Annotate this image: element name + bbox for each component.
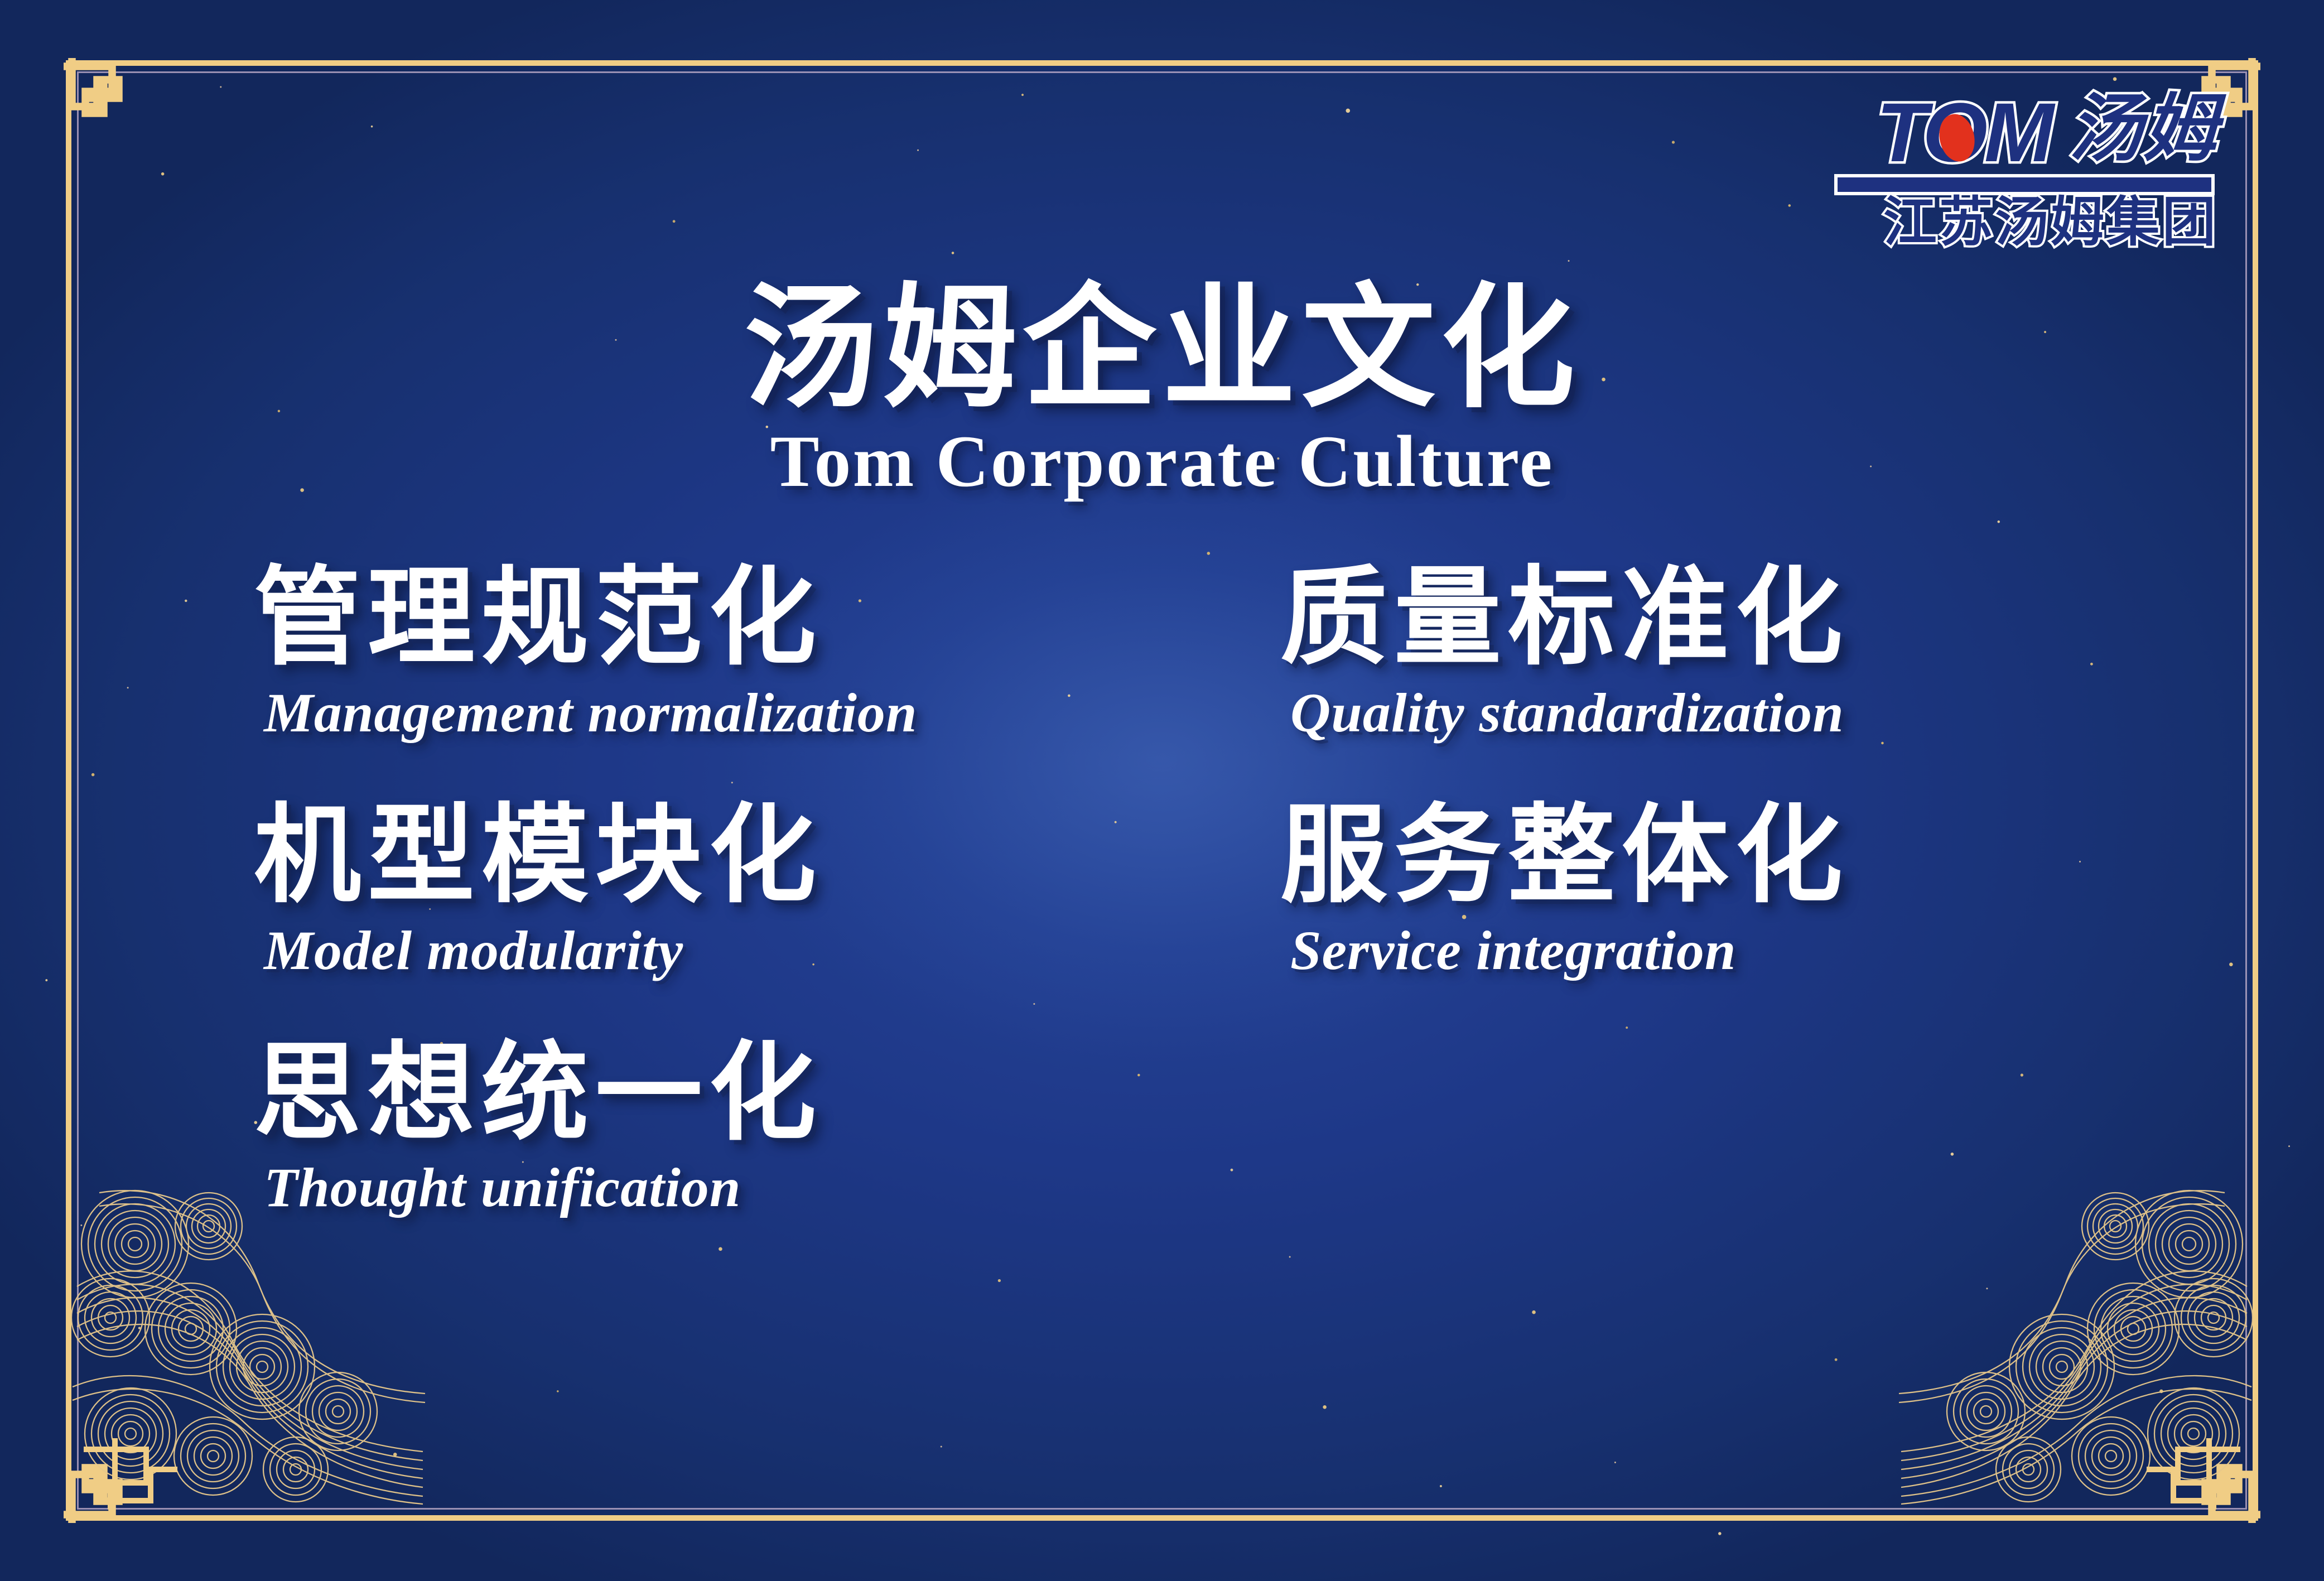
logo-wordmark-row: TOM 汤姆 [1794, 89, 2218, 184]
page-title: 汤姆企业文化 Tom Corporate Culture [0, 279, 2324, 500]
value-item-thought-unification: 思想统一化 Thought unification [254, 1039, 1280, 1216]
logo-brand-cn: 汤姆 [2069, 87, 2218, 172]
value-cn-label: 管理规范化 [254, 563, 1280, 673]
value-row-3-spacer [1280, 1039, 2095, 1216]
page-title-en: Tom Corporate Culture [0, 423, 2324, 500]
value-item-quality-standardization: 质量标准化 Quality standardization [1280, 563, 2095, 741]
value-item-model-modularity: 机型模块化 Model modularity [254, 801, 1280, 979]
company-logo: TOM 汤姆 江苏汤姆集团 [1794, 89, 2218, 251]
value-row-2: 机型模块化 Model modularity 服务整体化 Service int… [254, 801, 2095, 979]
value-en-label: Quality standardization [1290, 685, 2095, 741]
culture-values-grid: 管理规范化 Management normalization 质量标准化 Qua… [254, 563, 2095, 1216]
value-cn-label: 思想统一化 [254, 1039, 1280, 1148]
value-item-service-integration: 服务整体化 Service integration [1280, 801, 2095, 979]
value-en-label: Management normalization [264, 685, 1280, 741]
page-title-cn: 汤姆企业文化 [0, 279, 2324, 418]
value-en-label: Model modularity [264, 923, 1280, 979]
value-item-management-normalization: 管理规范化 Management normalization [254, 563, 1280, 741]
value-en-label: Thought unification [264, 1160, 1280, 1216]
value-cn-label: 质量标准化 [1280, 563, 2095, 673]
value-row-3: 思想统一化 Thought unification [254, 1039, 2095, 1216]
value-cn-label: 机型模块化 [254, 801, 1280, 910]
value-en-label: Service integration [1290, 923, 2095, 979]
chinese-knot-icon-bottom-left [60, 1443, 144, 1526]
logo-company-name: 江苏汤姆集团 [1883, 195, 2218, 249]
value-row-1: 管理规范化 Management normalization 质量标准化 Qua… [254, 563, 2095, 741]
chinese-knot-icon-bottom-right [2180, 1443, 2264, 1526]
chinese-knot-icon-top-left [60, 55, 144, 138]
value-cn-label: 服务整体化 [1280, 801, 2095, 910]
poster-canvas: TOM 汤姆 江苏汤姆集团 汤姆企业文化 Tom Corporate Cultu… [0, 0, 2324, 1581]
